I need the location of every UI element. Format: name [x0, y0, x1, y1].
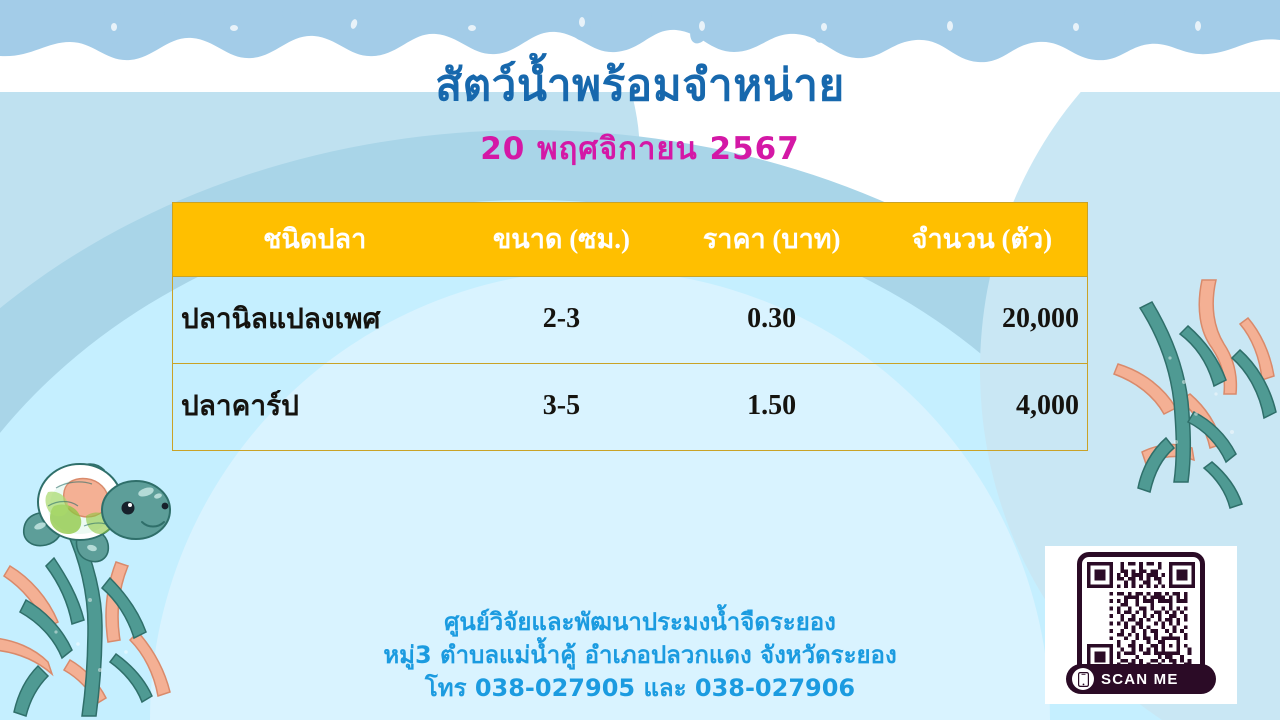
cell-species: ปลานิลแปลงเพศ — [173, 277, 456, 364]
page-title: สัตว์น้ำพร้อมจำหน่าย — [0, 62, 1280, 110]
table-header-row: ชนิดปลา ขนาด (ซม.) ราคา (บาท) จำนวน (ตัว… — [173, 203, 1087, 277]
column-header-quantity: จำนวน (ตัว) — [877, 203, 1087, 277]
poster-date: 20 พฤศจิกายน 2567 — [0, 132, 1280, 166]
scan-me-badge[interactable]: SCAN ME — [1066, 664, 1216, 694]
column-header-size: ขนาด (ซม.) — [456, 203, 666, 277]
cell-size: 2-3 — [456, 277, 666, 364]
scan-me-label: SCAN ME — [1101, 671, 1179, 688]
poster-canvas: สัตว์น้ำพร้อมจำหน่าย 20 พฤศจิกายน 2567 ช… — [0, 0, 1280, 720]
column-header-species: ชนิดปลา — [173, 203, 456, 277]
qr-code-image[interactable] — [1077, 552, 1205, 680]
coral-illustration-right — [1084, 262, 1280, 522]
qr-card[interactable]: SCAN ME — [1045, 546, 1237, 704]
table-row: ปลาคาร์ป 3-5 1.50 4,000 — [173, 364, 1087, 451]
mobile-phone-icon — [1072, 668, 1094, 690]
cell-species: ปลาคาร์ป — [173, 364, 456, 451]
cell-price: 1.50 — [667, 364, 877, 451]
sea-turtle-illustration — [18, 448, 183, 578]
cell-price: 0.30 — [667, 277, 877, 364]
column-header-price: ราคา (บาท) — [667, 203, 877, 277]
cell-quantity: 4,000 — [877, 364, 1087, 451]
cell-size: 3-5 — [456, 364, 666, 451]
table-row: ปลานิลแปลงเพศ 2-3 0.30 20,000 — [173, 277, 1087, 364]
cell-quantity: 20,000 — [877, 277, 1087, 364]
fish-table: ชนิดปลา ขนาด (ซม.) ราคา (บาท) จำนวน (ตัว… — [172, 202, 1088, 451]
